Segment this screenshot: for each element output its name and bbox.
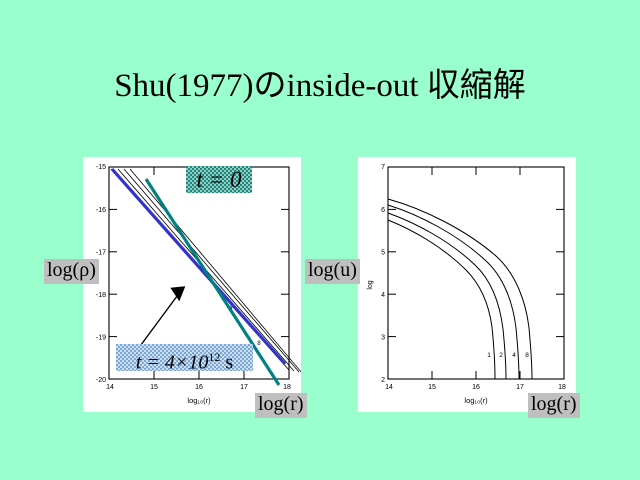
curve-label: 2 xyxy=(499,352,503,359)
y-tick-label: 2 xyxy=(381,377,385,384)
y-tick-label: -18 xyxy=(96,292,106,299)
curve-label: 1 xyxy=(487,352,491,359)
y-tick-label: -17 xyxy=(96,250,106,257)
x-tick-label: 18 xyxy=(558,384,566,391)
annotation-t-zero: t = 0 xyxy=(186,166,252,193)
x-tick-label: 14 xyxy=(385,384,393,391)
density-curve-4 xyxy=(124,169,299,372)
axis-callout-log-rho: log(ρ) xyxy=(44,259,99,284)
x-axis-title: log₁₀(r) xyxy=(187,396,211,405)
y-tick-label: 3 xyxy=(381,335,385,342)
slide-canvas: Shu(1977)のinside-out 収縮解 xyxy=(0,0,640,480)
axis-callout-log-r-left: log(r) xyxy=(255,393,307,418)
x-tick-label: 16 xyxy=(195,384,203,391)
x-tick-label: 15 xyxy=(150,384,158,391)
velocity-curve-1 xyxy=(388,220,495,379)
y-axis-title: log xyxy=(367,280,374,289)
y-tick-label: 5 xyxy=(381,250,385,257)
velocity-plot-svg: 7 6 5 4 3 2 log 14 15 16 17 18 log₁₀(r) xyxy=(358,157,576,412)
y-tick-label: 6 xyxy=(381,207,385,214)
plot-frame xyxy=(388,167,564,379)
density-curve-8 xyxy=(130,169,301,373)
curve-label: 8 xyxy=(257,341,261,347)
curve-label: 8 xyxy=(525,352,529,359)
y-tick-label: -20 xyxy=(96,377,106,384)
x-tick-label: 14 xyxy=(106,384,114,391)
x-tick-label: 18 xyxy=(283,384,291,391)
x-tick-label: 15 xyxy=(428,384,436,391)
annotation-t-four-prefix: t = 4×10 xyxy=(136,352,209,374)
page-title: Shu(1977)のinside-out 収縮解 xyxy=(0,58,640,106)
y-tick-label: -16 xyxy=(96,207,106,214)
series-line-t-4e12 xyxy=(112,169,285,364)
curve-label: 4 xyxy=(512,352,516,359)
velocity-curve-8 xyxy=(388,199,532,379)
annotation-t-four: t = 4×1012 s xyxy=(116,344,253,371)
y-tick-label: -19 xyxy=(96,335,106,342)
x-axis-title: log₁₀(r) xyxy=(464,396,488,405)
y-tick-label: 7 xyxy=(381,164,385,171)
y-tick-label: -15 xyxy=(96,164,106,171)
annotation-t-four-exponent: 12 xyxy=(208,350,220,364)
x-tick-label: 16 xyxy=(472,384,480,391)
x-tick-label: 17 xyxy=(240,384,248,391)
axis-callout-log-r-right: log(r) xyxy=(528,393,580,418)
x-tick-label: 17 xyxy=(516,384,524,391)
annotation-t-four-suffix: s xyxy=(220,352,233,374)
chart-panel-velocity: 7 6 5 4 3 2 log 14 15 16 17 18 log₁₀(r) xyxy=(358,157,576,412)
y-tick-label: 4 xyxy=(381,292,385,299)
axis-callout-log-u: log(u) xyxy=(305,259,360,284)
